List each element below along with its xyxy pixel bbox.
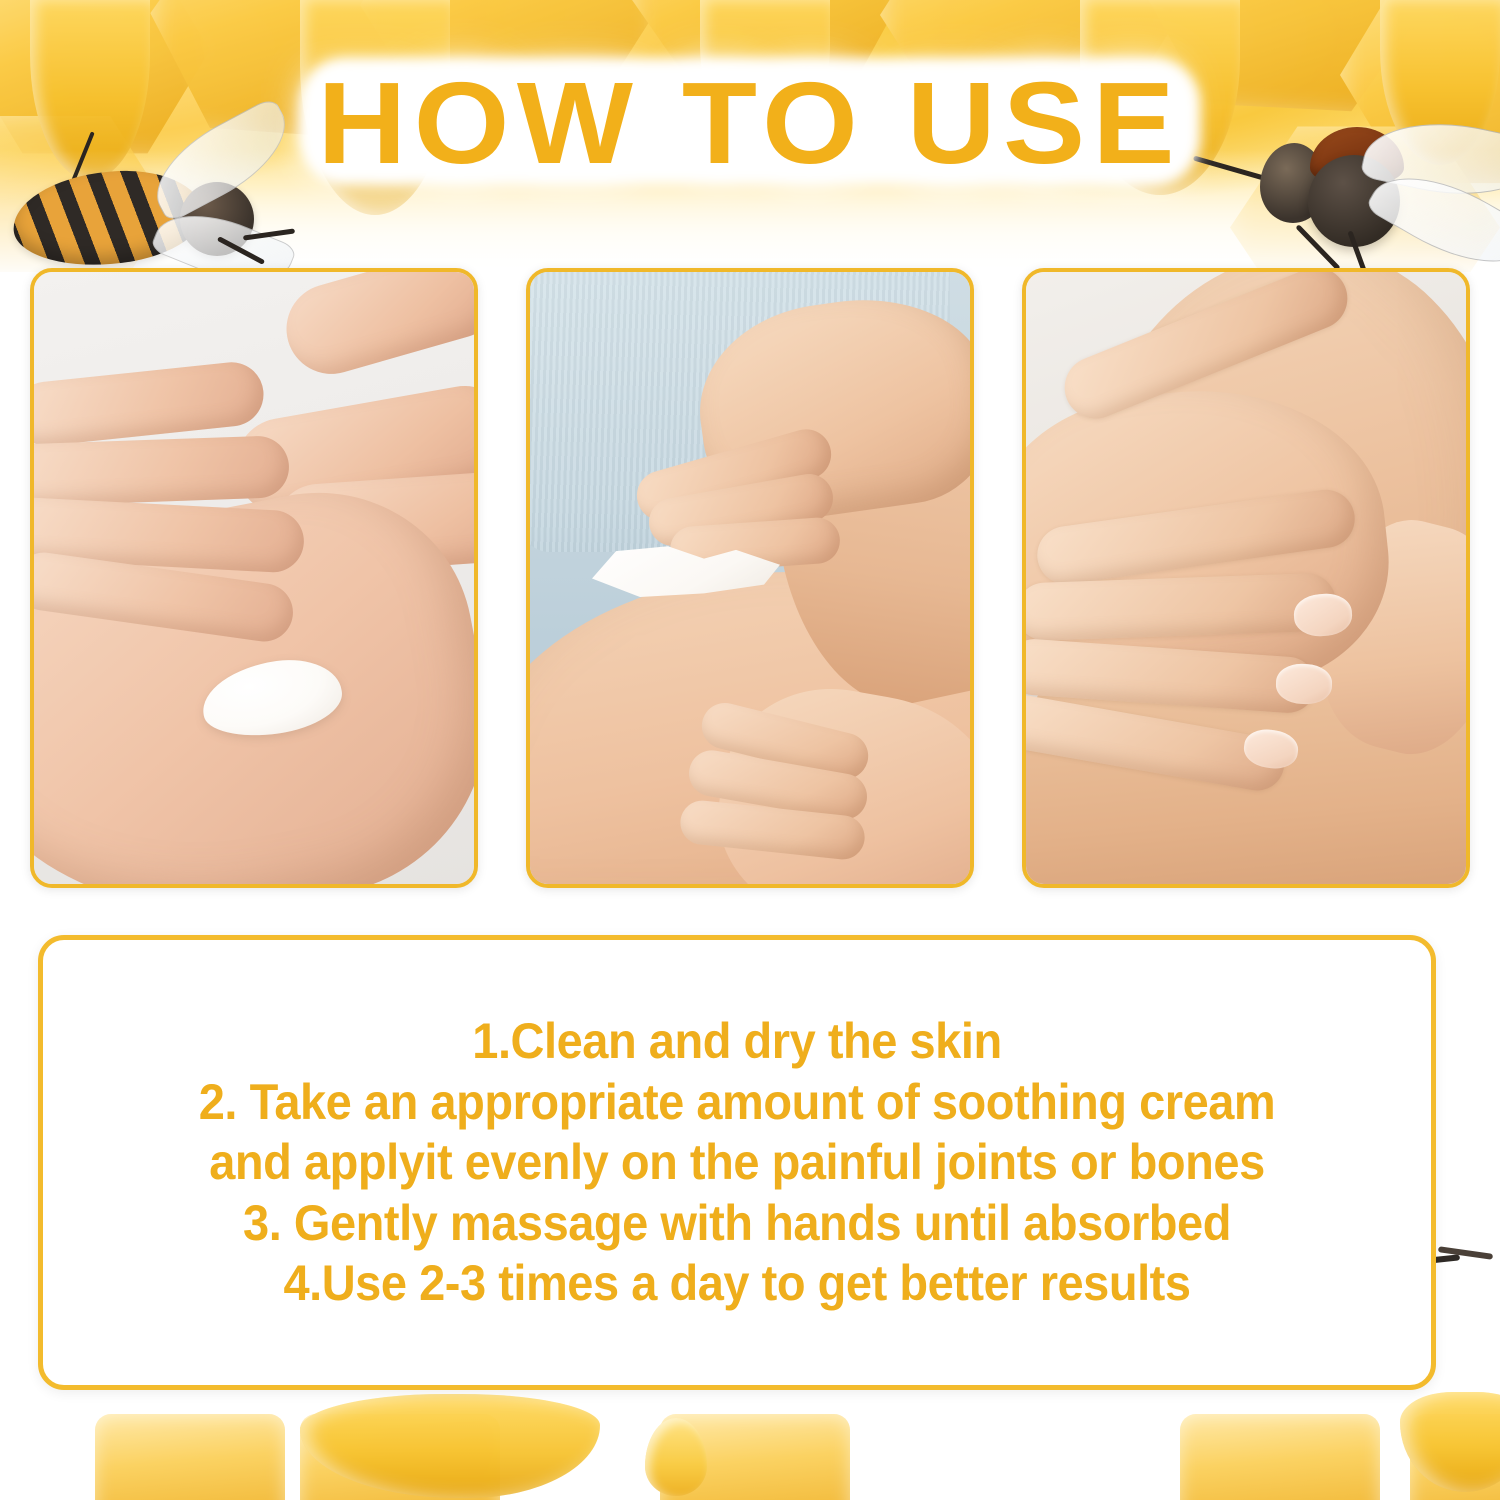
fingernail (1275, 663, 1332, 705)
finger-shape (30, 435, 290, 507)
instruction-step-2-line-2: and applyit evenly on the painful joints… (107, 1132, 1367, 1193)
honeycomb-icon (1180, 1414, 1380, 1500)
photo-panel-dispense-cream-in-palm (30, 268, 478, 888)
photo-panel-apply-cream-to-knee (526, 268, 974, 888)
bottom-honey-decoration (0, 1392, 1500, 1500)
page-title: HOW TO USE (269, 55, 1231, 197)
step-photo-gallery (30, 268, 1470, 880)
instruction-step-2-line-1: 2. Take an appropriate amount of soothin… (107, 1072, 1367, 1133)
photo-panel-massage-knee-with-hands (1022, 268, 1470, 888)
finger-shape (1022, 572, 1337, 641)
instruction-step-3: 3. Gently massage with hands until absor… (107, 1193, 1367, 1254)
instruction-step-4: 4.Use 2-3 times a day to get better resu… (107, 1253, 1367, 1314)
instruction-step-1: 1.Clean and dry the skin (107, 1011, 1367, 1072)
page-title-container: HOW TO USE (0, 62, 1500, 190)
honeycomb-icon (95, 1414, 285, 1500)
how-to-use-infographic: HOW TO USE (0, 0, 1500, 1500)
instructions-box: 1.Clean and dry the skin 2. Take an appr… (38, 935, 1436, 1390)
